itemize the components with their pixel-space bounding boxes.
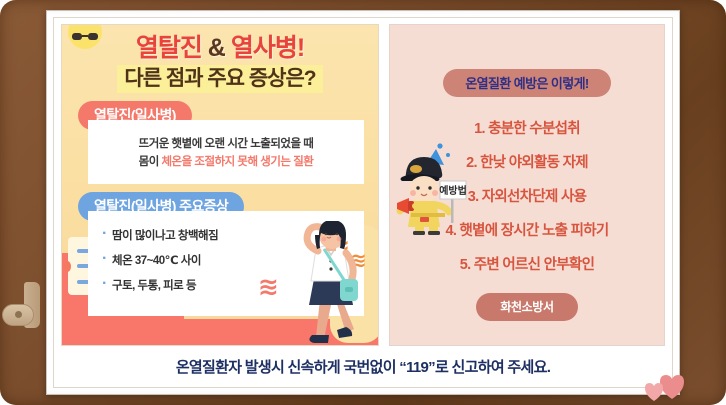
emergency-banner: 온열질환자 발생시 신속하게 국번없이 “119”로 신고하여 주세요. xyxy=(61,346,665,387)
woman-with-heat-exhaustion-illustration xyxy=(284,221,378,346)
left-panel-heat-exhaustion: 열탈진 & 열사병! 다른 점과 주요 증상은? 열탈진(일사병) 뜨거운 햇볕… xyxy=(61,24,379,346)
wooden-frame: 열탈진 & 열사병! 다른 점과 주요 증상은? 열탈진(일사병) 뜨거운 햇볕… xyxy=(0,0,726,405)
title-block: 열탈진 & 열사병! 다른 점과 주요 증상은? xyxy=(62,25,378,93)
mascot-sign-label: 예방법 xyxy=(439,184,467,197)
poster-inner-border: 열탈진 & 열사병! 다른 점과 주요 증상은? 열탈진(일사병) 뜨거운 햇볕… xyxy=(53,17,673,388)
prevention-header-pill: 온열질환 예방은 이렇게! xyxy=(443,69,610,97)
firefighter-mascot-illustration: 예방법 xyxy=(396,143,468,235)
decorative-dot xyxy=(64,261,71,272)
panels-container: 열탈진 & 열사병! 다른 점과 주요 증상은? 열탈진(일사병) 뜨거운 햇볕… xyxy=(61,24,665,346)
organization-badge: 화천소방서 xyxy=(476,293,577,321)
list-item: 5. 주변 어르신 안부확인 xyxy=(390,253,664,274)
list-item: 1. 충분한 수분섭취 xyxy=(390,117,664,138)
right-panel-prevention: 온열질환 예방은 이렇게! 1. 충분한 수분섭취 2. 한낮 야외활동 자제 … xyxy=(389,24,665,346)
definition-line1: 뜨거운 햇볕에 오랜 시간 노출되었을 때 xyxy=(96,136,356,154)
definition-line2: 몸이 체온을 조절하지 못해 생기는 질환 xyxy=(96,154,356,172)
heat-wave-squiggle-icon: ≋ xyxy=(258,277,279,297)
metal-clasp-latch-icon xyxy=(2,282,44,328)
page-title-line1: 열탈진 & 열사병! xyxy=(62,34,378,62)
definition-line2-highlight: 체온을 조절하지 못해 생기는 질환 xyxy=(161,156,313,168)
pink-hearts-decoration-icon xyxy=(640,367,696,401)
title-red-1: 열탈진 xyxy=(136,34,202,62)
poster-sheet: 열탈진 & 열사병! 다른 점과 주요 증상은? 열탈진(일사병) 뜨거운 햇볕… xyxy=(46,10,680,395)
title-ampersand: & xyxy=(202,34,231,62)
definition-line2-plain: 몸이 xyxy=(139,156,162,168)
emergency-banner-text: 온열질환자 발생시 신속하게 국번없이 “119”로 신고하여 주세요. xyxy=(176,356,550,377)
definition-card: 뜨거운 햇볕에 오랜 시간 노출되었을 때 몸이 체온을 조절하지 못해 생기는… xyxy=(88,120,364,184)
page-title-line2: 다른 점과 주요 증상은? xyxy=(117,65,322,93)
clasp-screw xyxy=(15,311,22,318)
title-red-2: 열사병! xyxy=(231,34,304,62)
